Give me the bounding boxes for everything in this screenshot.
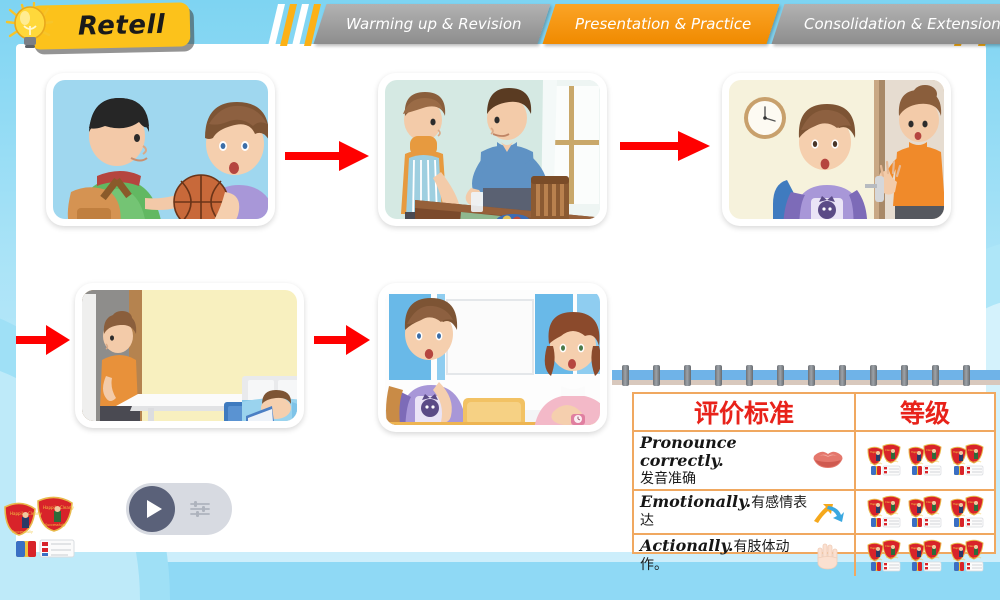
svg-text:Successfully: Successfully bbox=[911, 515, 924, 517]
svg-text:Successfully: Successfully bbox=[969, 461, 982, 463]
rubric-criteria-en: Emotionally. bbox=[640, 492, 751, 511]
rubric-criteria-text: Actionally.有肢体动作。 bbox=[640, 537, 808, 575]
story-panel-4[interactable] bbox=[75, 283, 304, 428]
binding-ring bbox=[653, 365, 660, 386]
notebook-binding bbox=[612, 368, 1000, 385]
svg-text:Successfully: Successfully bbox=[12, 530, 33, 534]
rubric-criteria-en: Pronounce correctly. bbox=[640, 434, 808, 471]
page-title: Retell bbox=[78, 10, 166, 42]
binding-ring bbox=[839, 365, 846, 386]
binding-ring bbox=[901, 365, 908, 386]
red-award-badge-icon: HappilyClearly SuccessfullySuccessfully bbox=[907, 495, 943, 529]
arrow-4-icon bbox=[314, 323, 372, 357]
red-award-badge-icon: HappilyClearly SuccessfullySuccessfully bbox=[949, 495, 985, 529]
rubric-header-grade: 等级 bbox=[856, 394, 994, 430]
arrow-2-icon bbox=[620, 129, 712, 163]
rubric-header-criteria: 评价标准 bbox=[634, 394, 856, 430]
svg-text:Successfully: Successfully bbox=[927, 557, 940, 559]
svg-text:Successfully: Successfully bbox=[953, 515, 966, 517]
svg-text:Successfully: Successfully bbox=[953, 463, 966, 465]
binding-ring bbox=[963, 365, 970, 386]
svg-text:Successfully: Successfully bbox=[870, 515, 883, 517]
rubric-header-row: 评价标准 等级 bbox=[634, 394, 994, 432]
svg-text:Successfully: Successfully bbox=[927, 461, 940, 463]
rubric-row-pronounce: Pronounce correctly. 发音准确 HappilyClearly bbox=[634, 432, 994, 491]
red-award-badge-icon: HappilyClearly SuccessfullySuccessfully bbox=[866, 539, 902, 573]
story-panel-1-image bbox=[53, 80, 268, 219]
rubric-criteria-cell: Pronounce correctly. 发音准确 bbox=[634, 432, 856, 489]
svg-text:Successfully: Successfully bbox=[45, 523, 66, 527]
svg-text:Clearly: Clearly bbox=[60, 505, 75, 510]
binding-ring bbox=[932, 365, 939, 386]
red-award-badge-icon: HappilyClearly SuccessfullySuccessfully bbox=[907, 443, 943, 477]
binding-ring bbox=[746, 365, 753, 386]
rubric-criteria-cell: Emotionally.有感情表达 bbox=[634, 491, 856, 533]
lightbulb-icon bbox=[4, 2, 66, 50]
red-award-badge-icon: HappilyClearly SuccessfullySuccessfully bbox=[866, 443, 902, 477]
binding-ring bbox=[777, 365, 784, 386]
story-panel-3[interactable] bbox=[722, 73, 951, 226]
binding-ring bbox=[684, 365, 691, 386]
hand-icon bbox=[808, 542, 848, 570]
binding-ring bbox=[870, 365, 877, 386]
rubric-criteria-cell: Actionally.有肢体动作。 bbox=[634, 535, 856, 577]
rubric-criteria-text: Pronounce correctly. 发音准确 bbox=[640, 434, 808, 487]
svg-text:Successfully: Successfully bbox=[953, 559, 966, 561]
tab-warming-up-revision[interactable]: Warming up & Revision bbox=[314, 4, 551, 44]
tab-label: Consolidation & Extension bbox=[804, 15, 1000, 33]
award-watermark-logo: HappilyClearly HappilyClearly Successful… bbox=[2, 493, 76, 559]
red-award-badge-icon: HappilyClearly SuccessfullySuccessfully bbox=[866, 495, 902, 529]
svg-text:Successfully: Successfully bbox=[886, 557, 899, 559]
story-panel-3-image bbox=[729, 80, 944, 219]
header-bar: Retell Warming up & Revis bbox=[0, 0, 1000, 50]
svg-text:Clearly: Clearly bbox=[28, 511, 43, 516]
svg-text:Successfully: Successfully bbox=[886, 513, 899, 515]
svg-text:Successfully: Successfully bbox=[969, 557, 982, 559]
tab-presentation-practice[interactable]: Presentation & Practice bbox=[542, 4, 779, 44]
rubric-grade-cell[interactable]: HappilyClearly SuccessfullySuccessfully … bbox=[856, 432, 994, 489]
play-icon bbox=[147, 500, 162, 518]
rubric-row-actionally: Actionally.有肢体动作。 Ha bbox=[634, 535, 994, 577]
tab-consolidation-extension[interactable]: Consolidation & Extension bbox=[771, 4, 1000, 44]
story-panel-1[interactable] bbox=[46, 73, 275, 226]
story-panel-5[interactable] bbox=[378, 283, 607, 432]
svg-text:Successfully: Successfully bbox=[911, 463, 924, 465]
rubric-criteria-text: Emotionally.有感情表达 bbox=[640, 493, 808, 531]
rubric-criteria-en: Actionally. bbox=[640, 536, 733, 555]
rubric-criteria-zh: 发音准确 bbox=[640, 471, 808, 487]
arrow-1-icon bbox=[285, 139, 371, 173]
red-award-badge-icon: HappilyClearly SuccessfullySuccessfully bbox=[949, 443, 985, 477]
nav-tabs: Warming up & Revision Presentation & Pra… bbox=[320, 4, 1000, 44]
svg-text:Successfully: Successfully bbox=[870, 463, 883, 465]
svg-text:Successfully: Successfully bbox=[870, 559, 883, 561]
svg-text:Successfully: Successfully bbox=[927, 513, 940, 515]
arrows-icon bbox=[808, 501, 848, 523]
play-button[interactable] bbox=[129, 486, 175, 532]
rubric-grade-cell[interactable]: HappilyClearly SuccessfullySuccessfully … bbox=[856, 491, 994, 533]
rubric-grade-cell[interactable]: HappilyClearly SuccessfullySuccessfully … bbox=[856, 535, 994, 577]
story-panel-2[interactable] bbox=[378, 73, 607, 226]
binding-shadow bbox=[612, 380, 1000, 385]
story-panel-4-image bbox=[82, 290, 297, 421]
story-panel-5-image bbox=[385, 290, 600, 425]
red-award-badge-icon: HappilyClearly SuccessfullySuccessfully bbox=[949, 539, 985, 573]
lips-icon bbox=[808, 451, 848, 469]
rubric-row-emotionally: Emotionally.有感情表达 HappilyClearly bbox=[634, 491, 994, 535]
media-player-widget[interactable] bbox=[126, 483, 232, 535]
svg-text:Successfully: Successfully bbox=[969, 513, 982, 515]
svg-text:Successfully: Successfully bbox=[911, 559, 924, 561]
story-panel-2-image bbox=[385, 80, 600, 219]
red-award-badge-icon: HappilyClearly SuccessfullySuccessfully bbox=[907, 539, 943, 573]
binding-ring bbox=[715, 365, 722, 386]
arrow-3-icon bbox=[16, 323, 72, 357]
binding-ring bbox=[808, 365, 815, 386]
tab-label: Warming up & Revision bbox=[346, 15, 522, 33]
evaluation-rubric-table: 评价标准 等级 Pronounce correctly. 发音准确 bbox=[632, 392, 996, 554]
binding-ring bbox=[622, 365, 629, 386]
svg-text:Successfully: Successfully bbox=[886, 461, 899, 463]
tab-label: Presentation & Practice bbox=[575, 15, 751, 33]
sliders-icon[interactable] bbox=[189, 499, 211, 519]
